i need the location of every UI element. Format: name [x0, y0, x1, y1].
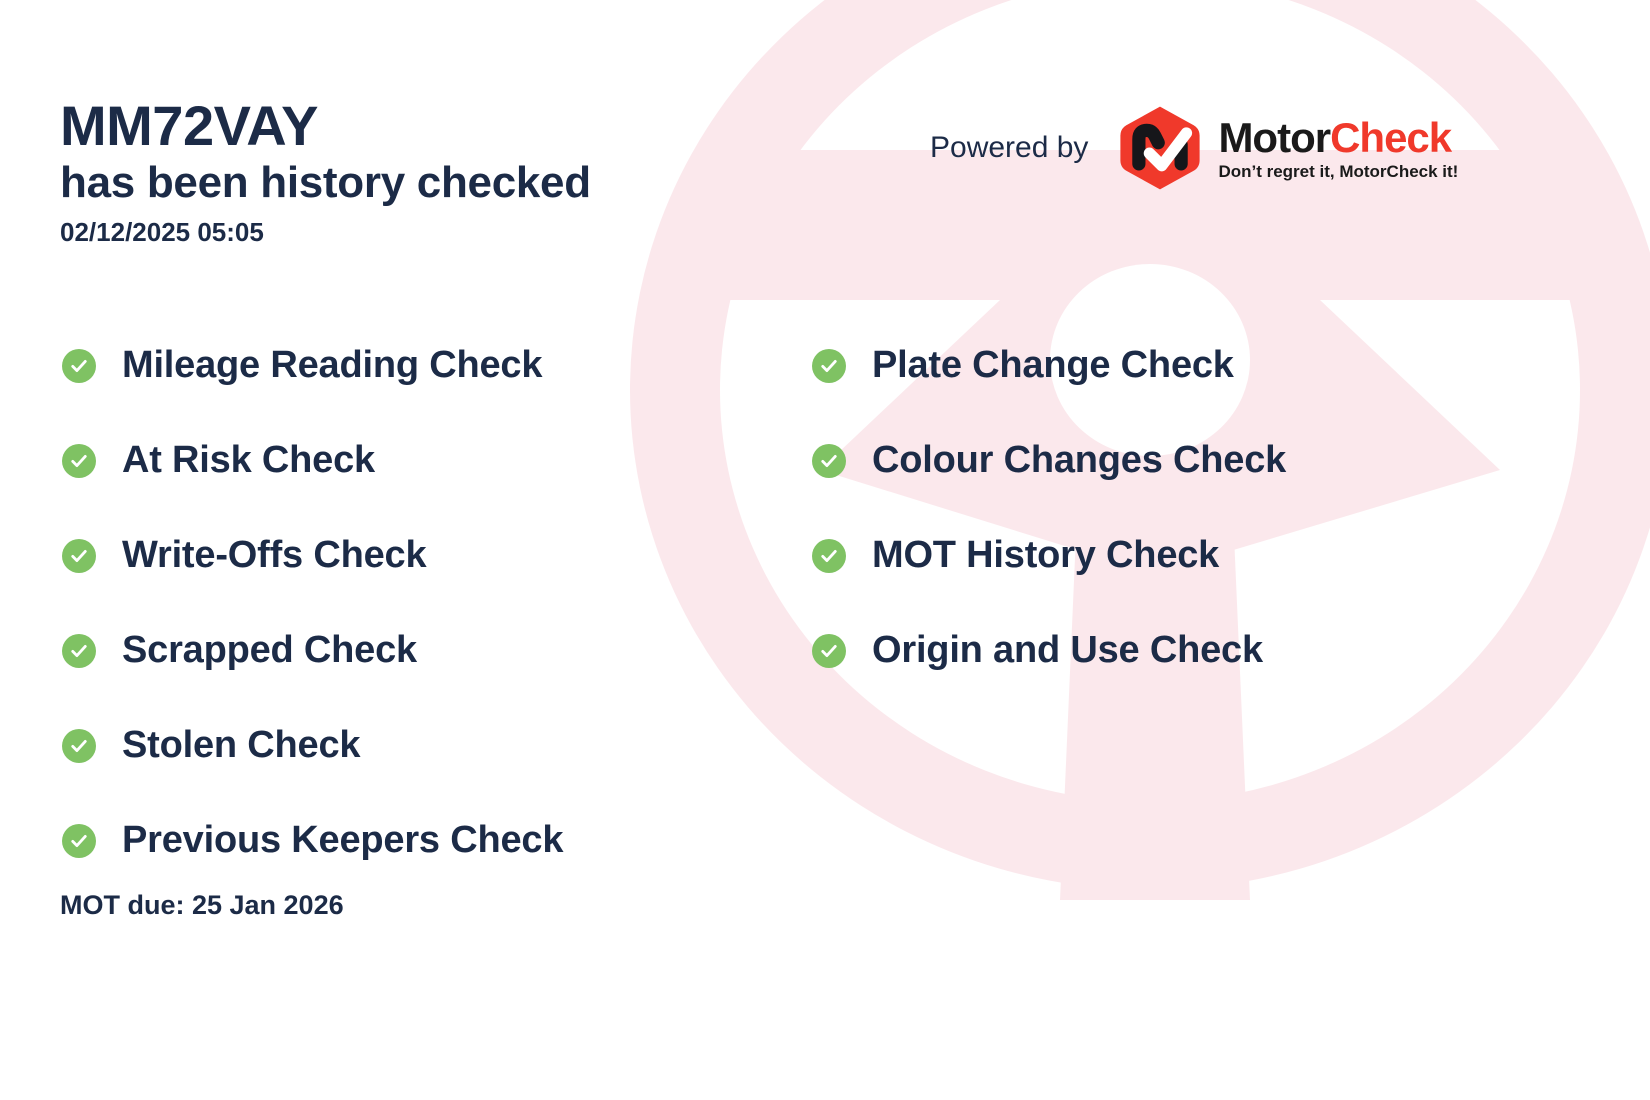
check-item: Previous Keepers Check: [62, 793, 792, 888]
motorcheck-hexagon-icon: [1116, 104, 1204, 192]
check-circle-icon: [62, 349, 96, 383]
check-item: Colour Changes Check: [812, 413, 1572, 508]
check-item-label: Stolen Check: [122, 724, 360, 767]
check-circle-icon: [812, 349, 846, 383]
check-circle-icon: [812, 634, 846, 668]
check-item-label: Origin and Use Check: [872, 629, 1263, 672]
brand-name-motor: Motor: [1218, 114, 1330, 161]
vehicle-header: MM72VAY has been history checked 02/12/2…: [60, 96, 591, 248]
check-circle-icon: [812, 539, 846, 573]
motorcheck-logo[interactable]: MotorCheck Don’t regret it, MotorCheck i…: [1116, 104, 1458, 192]
registration-plate: MM72VAY: [60, 96, 591, 156]
check-circle-icon: [62, 634, 96, 668]
check-item-label: Scrapped Check: [122, 629, 417, 672]
check-circle-icon: [62, 444, 96, 478]
checks-column-left: Mileage Reading Check At Risk Check Writ…: [62, 318, 792, 888]
check-item-label: Previous Keepers Check: [122, 819, 563, 862]
check-item: MOT History Check: [812, 508, 1572, 603]
check-item: Mileage Reading Check: [62, 318, 792, 413]
check-item: Stolen Check: [62, 698, 792, 793]
brand-lockup: Powered by MotorCheck Don’t regret it, M…: [930, 104, 1458, 192]
check-circle-icon: [62, 539, 96, 573]
check-item-label: Mileage Reading Check: [122, 344, 542, 387]
brand-name-check: Check: [1330, 114, 1451, 161]
vehicle-history-check-card: MM72VAY has been history checked 02/12/2…: [0, 0, 1650, 1100]
check-circle-icon: [62, 824, 96, 858]
check-item-label: At Risk Check: [122, 439, 375, 482]
check-circle-icon: [62, 729, 96, 763]
check-circle-icon: [812, 444, 846, 478]
brand-tagline: Don’t regret it, MotorCheck it!: [1218, 163, 1458, 180]
check-item-label: Colour Changes Check: [872, 439, 1286, 482]
check-item-label: MOT History Check: [872, 534, 1219, 577]
powered-by-label: Powered by: [930, 131, 1088, 165]
check-item-label: Plate Change Check: [872, 344, 1234, 387]
check-item-label: Write-Offs Check: [122, 534, 426, 577]
check-item: Origin and Use Check: [812, 603, 1572, 698]
check-item: Plate Change Check: [812, 318, 1572, 413]
check-item: Scrapped Check: [62, 603, 792, 698]
check-item: At Risk Check: [62, 413, 792, 508]
mot-due-label: MOT due: 25 Jan 2026: [60, 890, 344, 921]
page-title: has been history checked: [60, 158, 591, 209]
brand-name: MotorCheck: [1218, 117, 1458, 159]
checks-column-right: Plate Change Check Colour Changes Check …: [812, 318, 1572, 698]
check-item: Write-Offs Check: [62, 508, 792, 603]
check-timestamp: 02/12/2025 05:05: [60, 217, 591, 248]
